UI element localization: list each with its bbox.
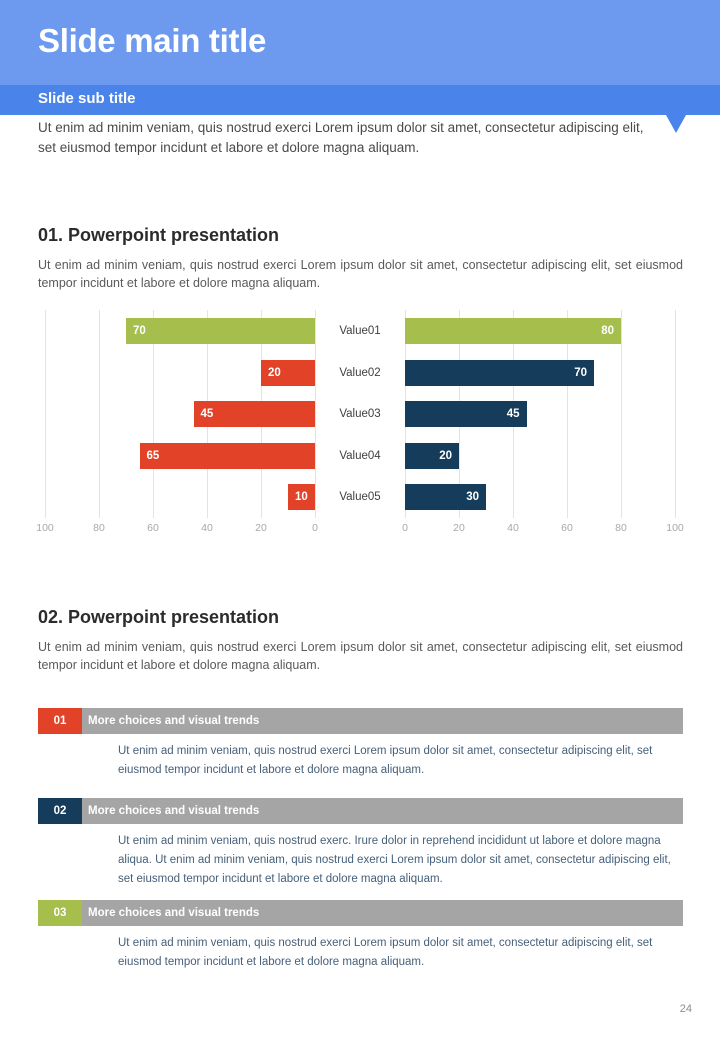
left-bar-track: 20 <box>45 360 315 386</box>
slide-subheader-banner: Slide sub title <box>0 85 720 115</box>
left-bar-value: 65 <box>147 450 160 462</box>
left-bar: 65 <box>140 443 316 469</box>
right-bar-track: 30 <box>405 484 675 510</box>
list-item-header[interactable]: 01More choices and visual trends <box>38 708 683 734</box>
right-bar: 30 <box>405 484 486 510</box>
chart-row: 10Value0530 <box>0 476 720 518</box>
page-number: 24 <box>680 1003 692 1015</box>
header-lead-paragraph: Ut enim ad minim veniam, quis nostrud ex… <box>38 118 654 158</box>
right-bar-value: 70 <box>574 367 587 379</box>
left-bar: 45 <box>194 401 316 427</box>
axis-tick-label: 40 <box>187 522 227 534</box>
list-item-header[interactable]: 03More choices and visual trends <box>38 900 683 926</box>
left-bar-track: 70 <box>45 318 315 344</box>
list-item-number-badge: 02 <box>38 798 82 824</box>
list-item-number-badge: 01 <box>38 708 82 734</box>
right-bar-value: 45 <box>507 408 520 420</box>
left-bar-value: 70 <box>133 325 146 337</box>
list-item-title: More choices and visual trends <box>88 798 259 824</box>
axis-tick-label: 100 <box>25 522 65 534</box>
list-item-number-badge: 03 <box>38 900 82 926</box>
axis-tick-label: 0 <box>295 522 335 534</box>
chart-row: 45Value0345 <box>0 393 720 435</box>
chart-category-label: Value01 <box>315 318 405 344</box>
section-title-01: 01. Powerpoint presentation <box>38 225 279 246</box>
right-bar-track: 80 <box>405 318 675 344</box>
axis-tick-label: 20 <box>241 522 281 534</box>
right-bar: 20 <box>405 443 459 469</box>
list-item-body: Ut enim ad minim veniam, quis nostrud ex… <box>118 742 683 780</box>
chart-x-axis: 100806040200020406080100 <box>0 522 720 542</box>
chart-category-label: Value05 <box>315 484 405 510</box>
list-item-body: Ut enim ad minim veniam, quis nostrud ex… <box>118 934 683 972</box>
axis-tick-label: 60 <box>547 522 587 534</box>
axis-tick-label: 0 <box>385 522 425 534</box>
chart-row: 20Value0270 <box>0 352 720 394</box>
left-bar-value: 20 <box>268 367 281 379</box>
triangle-pointer-icon <box>666 115 686 133</box>
left-bar: 70 <box>126 318 315 344</box>
slide-header-banner: Slide main title <box>0 0 720 85</box>
right-bar-track: 45 <box>405 401 675 427</box>
page-title: Slide main title <box>38 22 266 60</box>
left-bar-track: 65 <box>45 443 315 469</box>
right-bar: 80 <box>405 318 621 344</box>
right-bar: 70 <box>405 360 594 386</box>
chart-row: 70Value0180 <box>0 310 720 352</box>
tornado-bar-chart: 70Value018020Value027045Value034565Value… <box>0 310 720 545</box>
chart-bar-rows: 70Value018020Value027045Value034565Value… <box>0 310 720 518</box>
chart-category-label: Value02 <box>315 360 405 386</box>
left-bar-value: 10 <box>295 491 308 503</box>
list-item-title: More choices and visual trends <box>88 900 259 926</box>
chart-row: 65Value0420 <box>0 435 720 477</box>
axis-tick-label: 20 <box>439 522 479 534</box>
left-bar-value: 45 <box>201 408 214 420</box>
section-body-01: Ut enim ad minim veniam, quis nostrud ex… <box>38 256 683 292</box>
list-item-header[interactable]: 02More choices and visual trends <box>38 798 683 824</box>
right-bar: 45 <box>405 401 527 427</box>
chart-category-label: Value04 <box>315 443 405 469</box>
chart-category-label: Value03 <box>315 401 405 427</box>
right-bar-value: 30 <box>466 491 479 503</box>
axis-tick-label: 60 <box>133 522 173 534</box>
left-bar: 20 <box>261 360 315 386</box>
axis-tick-label: 80 <box>601 522 641 534</box>
page-subtitle: Slide sub title <box>38 90 136 107</box>
right-bar-value: 80 <box>601 325 614 337</box>
section-title-02: 02. Powerpoint presentation <box>38 607 279 628</box>
list-item-title: More choices and visual trends <box>88 708 259 734</box>
list-item-body: Ut enim ad minim veniam, quis nostrud ex… <box>118 832 683 889</box>
left-bar: 10 <box>288 484 315 510</box>
axis-tick-label: 100 <box>655 522 695 534</box>
left-bar-track: 10 <box>45 484 315 510</box>
right-bar-value: 20 <box>439 450 452 462</box>
left-bar-track: 45 <box>45 401 315 427</box>
axis-tick-label: 40 <box>493 522 533 534</box>
section-body-02: Ut enim ad minim veniam, quis nostrud ex… <box>38 638 683 674</box>
right-bar-track: 20 <box>405 443 675 469</box>
right-bar-track: 70 <box>405 360 675 386</box>
axis-tick-label: 80 <box>79 522 119 534</box>
